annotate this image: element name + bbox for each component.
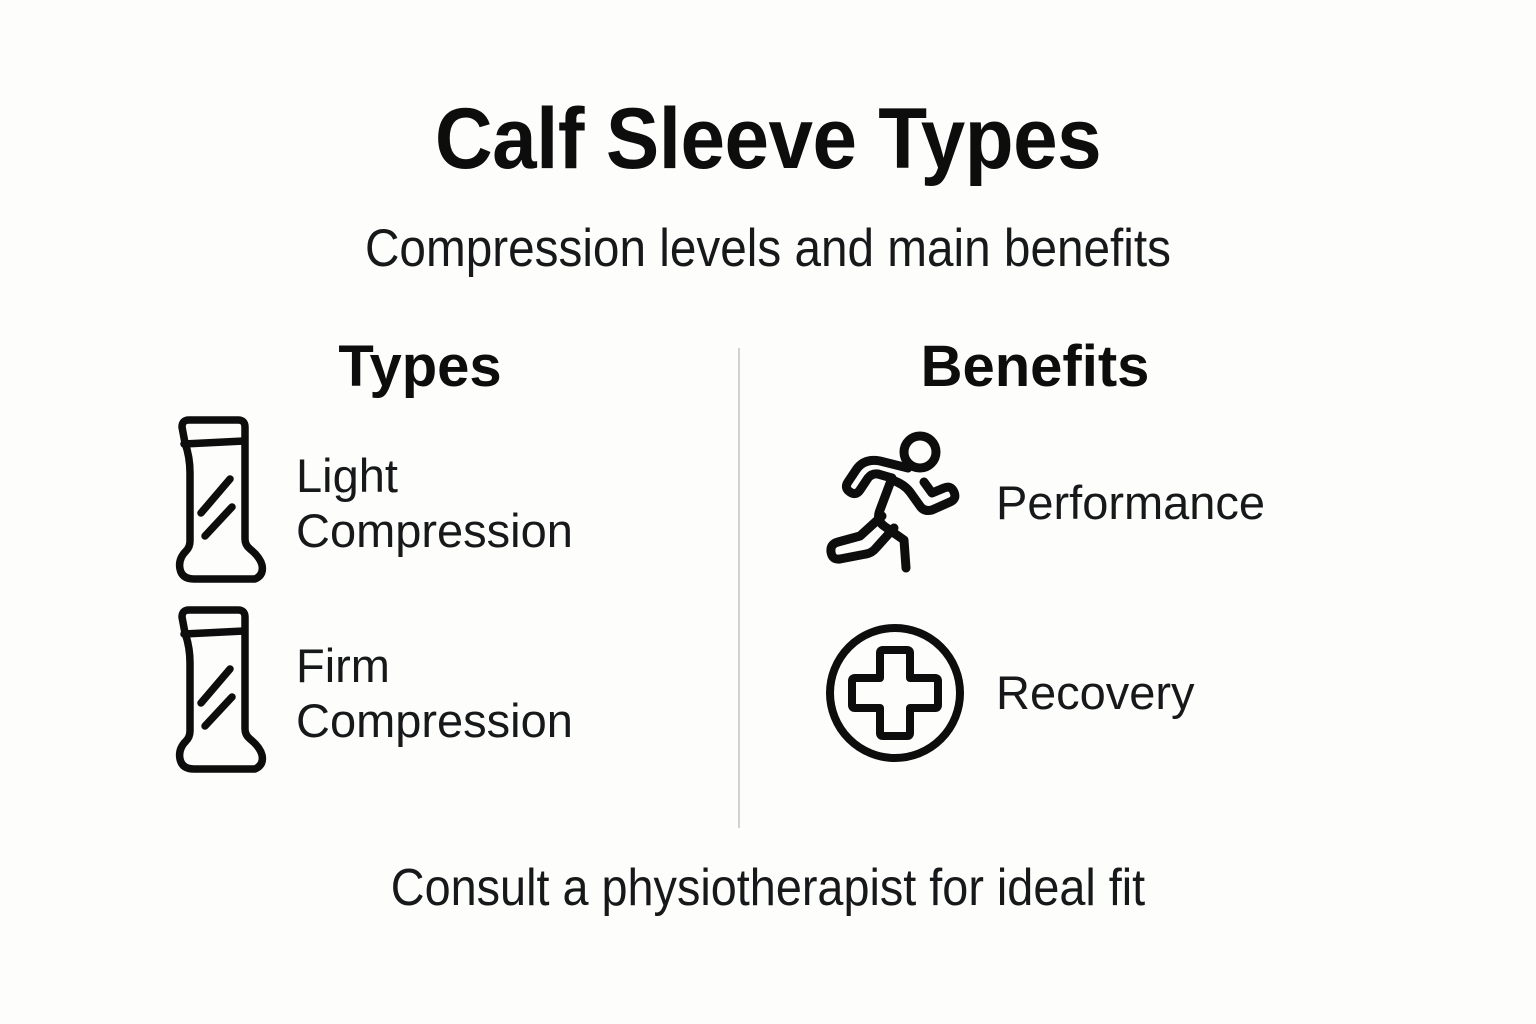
columns-section: Types Light Compression [0,338,1536,838]
list-item-label: Light Compression [296,448,626,559]
page-subtitle: Compression levels and main benefits [77,182,1459,275]
column-divider [738,348,740,828]
list-item-recovery: Recovery [760,598,1400,788]
running-person-icon [820,428,970,578]
column-heading-types: Types [120,338,720,408]
list-item-light-compression: Light Compression [120,408,720,598]
page-title: Calf Sleeve Types [54,96,1482,182]
calf-sleeve-icon [160,603,270,783]
column-benefits: Benefits Performance [760,338,1400,838]
list-item-label: Recovery [996,666,1195,720]
list-item-label: Performance [996,476,1265,530]
list-item-label: Firm Compression [296,638,626,749]
calf-sleeve-icon [160,413,270,593]
footer-note: Consult a physiotherapist for ideal fit [77,862,1459,914]
footer: Consult a physiotherapist for ideal fit [0,862,1536,914]
column-heading-benefits: Benefits [760,338,1400,408]
list-item-performance: Performance [760,408,1400,598]
column-types: Types Light Compression [120,338,720,838]
infographic-poster: Calf Sleeve Types Compression levels and… [0,0,1536,1024]
header: Calf Sleeve Types Compression levels and… [0,96,1536,275]
list-item-firm-compression: Firm Compression [120,598,720,788]
medical-cross-circle-icon [820,618,970,768]
